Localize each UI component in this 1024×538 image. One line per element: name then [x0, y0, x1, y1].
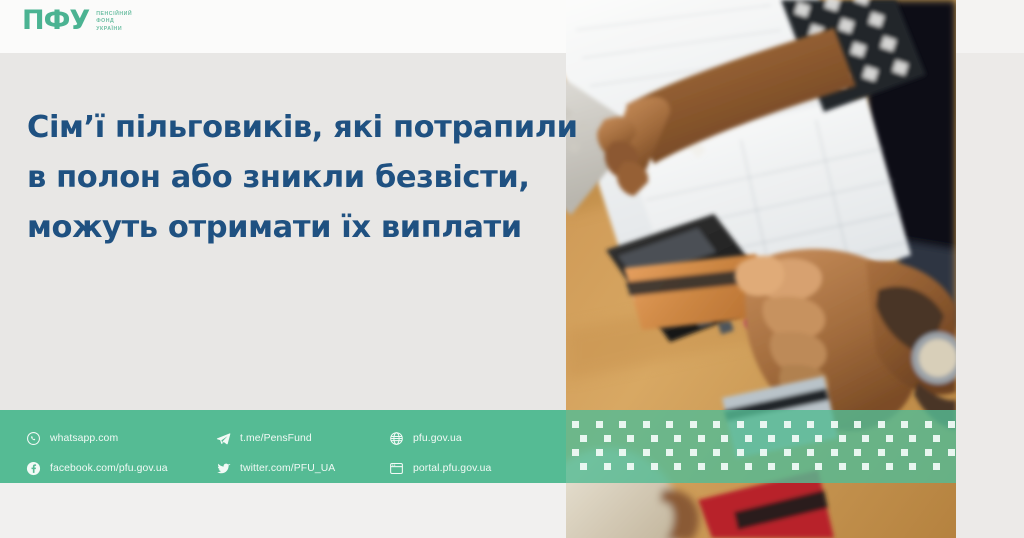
logo-wordmark-line-1: Пенсійний [96, 11, 132, 17]
logo-wordmark-line-2: фонд [96, 18, 132, 24]
logo-monogram: ПФУ [22, 8, 89, 34]
bottom-strip [0, 483, 566, 538]
whatsapp-icon [26, 431, 41, 446]
telegram-icon [216, 431, 231, 446]
contact-footer-bar: whatsapp.com facebook.com/pfu.gov.ua [0, 410, 566, 483]
contact-label: t.me/PensFund [240, 433, 312, 444]
contact-link-facebook[interactable]: facebook.com/pfu.gov.ua [26, 461, 168, 476]
browser-window-icon [389, 461, 404, 476]
headline-line-1: Сім’ї пільговиків, які потрапили [27, 103, 547, 153]
contact-link-portal[interactable]: portal.pfu.gov.ua [389, 461, 491, 476]
logo-wordmark: Пенсійний фонд України [96, 8, 132, 32]
contact-link-twitter[interactable]: twitter.com/PFU_UA [216, 461, 335, 476]
globe-icon [389, 431, 404, 446]
contact-link-whatsapp[interactable]: whatsapp.com [26, 431, 118, 446]
contact-label: portal.pfu.gov.ua [413, 463, 491, 474]
promo-banner: ПФУ Пенсійний фонд України Сім’ї пільгов… [0, 0, 1024, 538]
header-band: ПФУ Пенсійний фонд України [0, 0, 566, 53]
contact-label: pfu.gov.ua [413, 433, 462, 444]
headline-line-3: можуть отримати їх виплати [27, 203, 547, 253]
twitter-icon [216, 461, 231, 476]
pfu-logo[interactable]: ПФУ Пенсійний фонд України [22, 8, 132, 34]
contact-link-telegram[interactable]: t.me/PensFund [216, 431, 312, 446]
page-title: Сім’ї пільговиків, які потрапили в полон… [27, 103, 547, 253]
logo-wordmark-line-3: України [96, 26, 132, 32]
decorative-dot-pattern [566, 410, 956, 483]
contact-link-website[interactable]: pfu.gov.ua [389, 431, 462, 446]
contact-label: whatsapp.com [50, 433, 118, 444]
facebook-icon [26, 461, 41, 476]
contact-label: facebook.com/pfu.gov.ua [50, 463, 168, 474]
contact-label: twitter.com/PFU_UA [240, 463, 335, 474]
photo-right-margin [956, 0, 1024, 538]
headline-line-2: в полон або зникли безвісти, [27, 153, 547, 203]
